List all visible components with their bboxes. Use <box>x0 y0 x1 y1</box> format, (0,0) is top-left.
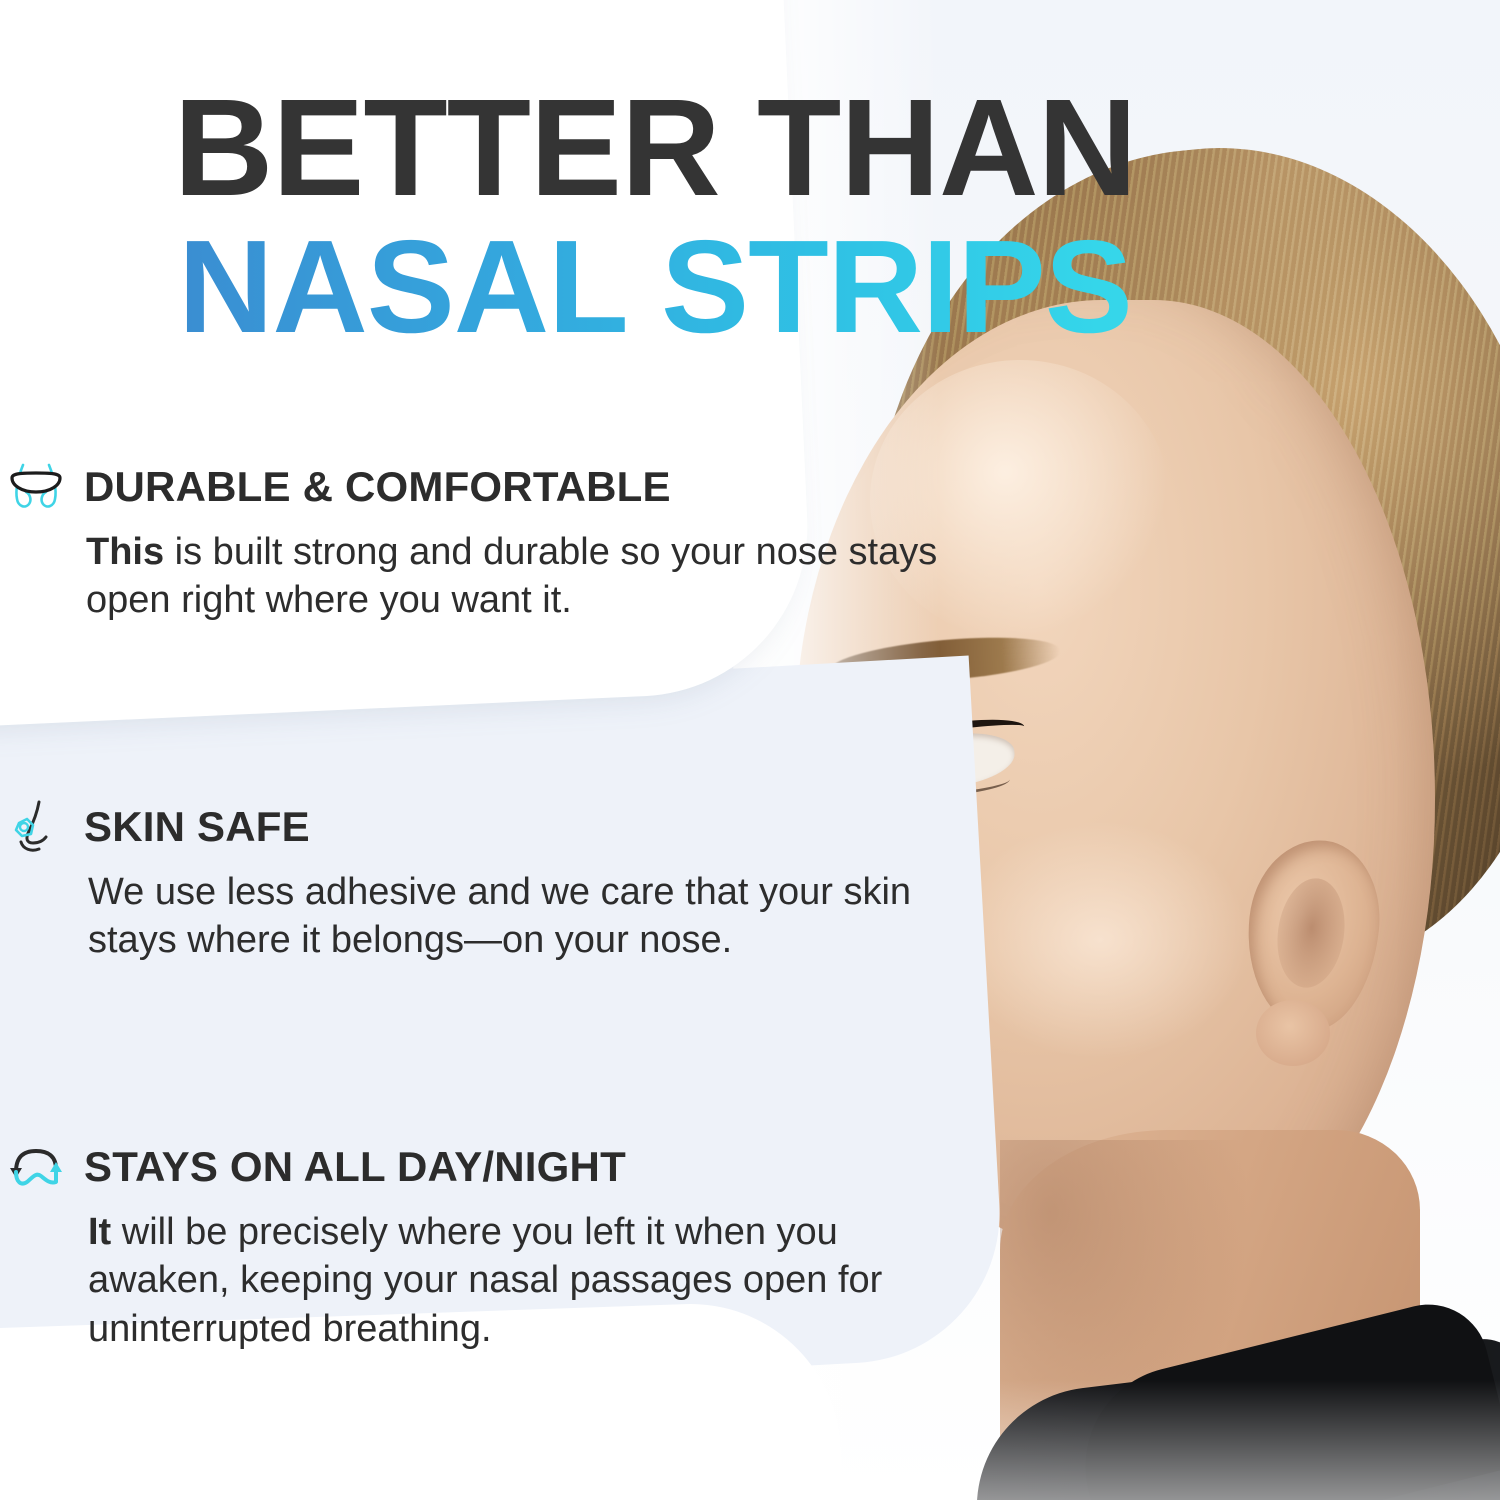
feature-body-rest: will be precisely where you left it when… <box>88 1211 882 1350</box>
feature-item-skin-safe: SKIN SAFE We use less adhesive and we ca… <box>0 800 960 965</box>
headline-line-2: NASAL STRIPS <box>0 224 1310 351</box>
feature-title: STAYS ON ALL DAY/NIGHT <box>84 1143 626 1191</box>
feature-body: This is built strong and durable so your… <box>86 528 960 625</box>
feature-body-rest: We use less adhesive and we care that yo… <box>88 871 911 961</box>
feature-body: It will be precisely where you left it w… <box>88 1208 960 1353</box>
feature-body-rest: is built strong and durable so your nose… <box>86 531 937 621</box>
feature-body-lead: It <box>88 1211 111 1253</box>
earlobe <box>1256 1000 1330 1066</box>
feature-header: SKIN SAFE <box>88 800 960 854</box>
feature-header: DURABLE & COMFORTABLE <box>88 460 960 514</box>
nose-strip-icon <box>4 460 68 514</box>
headline: BETTER THAN NASAL STRIPS <box>0 82 1310 351</box>
feature-title: SKIN SAFE <box>84 803 310 851</box>
feature-item-stays-on: STAYS ON ALL DAY/NIGHT It will be precis… <box>0 1140 960 1353</box>
feature-body: We use less adhesive and we care that yo… <box>88 868 960 965</box>
day-night-cycle-icon <box>4 1140 68 1194</box>
headline-line-1: BETTER THAN <box>0 82 1310 214</box>
feature-title: DURABLE & COMFORTABLE <box>84 463 671 511</box>
feature-body-lead: This <box>86 531 164 573</box>
feature-header: STAYS ON ALL DAY/NIGHT <box>88 1140 960 1194</box>
infographic-canvas: BETTER THAN NASAL STRIPS DURABLE & COMFO… <box>0 0 1500 1500</box>
feature-item-durable-comfortable: DURABLE & COMFORTABLE This is built stro… <box>0 460 960 625</box>
nose-profile-patch-icon <box>4 800 68 854</box>
